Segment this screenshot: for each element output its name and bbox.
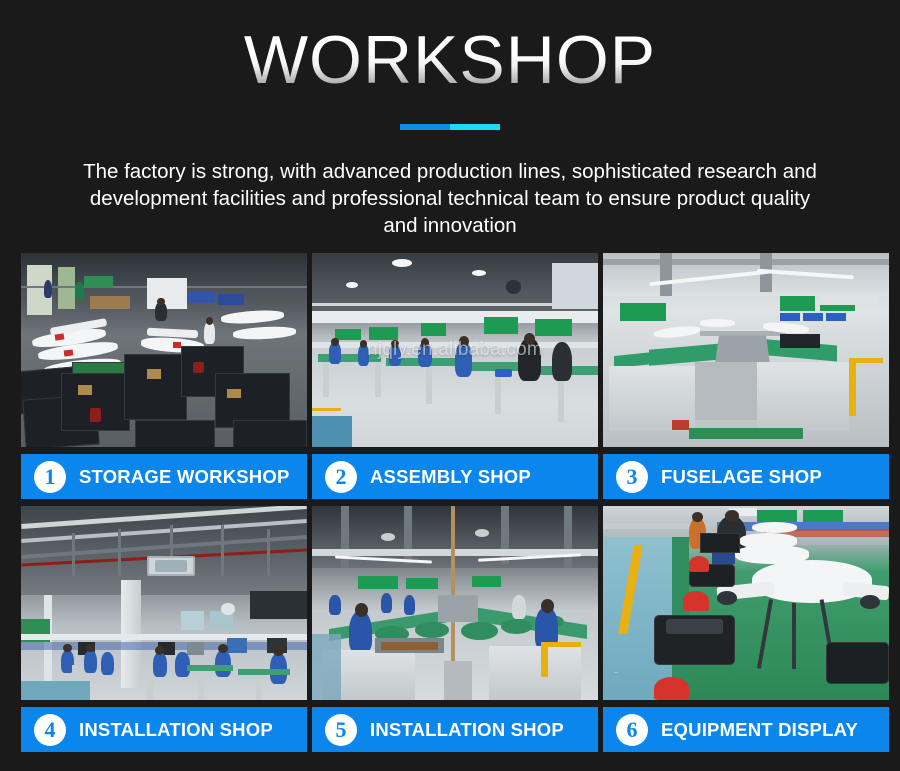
- step-number-badge: 5: [325, 714, 357, 746]
- step-number-badge: 1: [34, 461, 66, 493]
- workshop-photo-2: njqly.en.alibaba.com: [312, 253, 598, 447]
- divider-segment-left: [400, 124, 450, 130]
- workshop-photo-1: [21, 253, 307, 447]
- workshop-photo-4: [21, 506, 307, 700]
- workshop-caption-3[interactable]: 3 FUSELAGE SHOP: [603, 454, 889, 499]
- workshop-gallery: 1 STORAGE WORKSHOP: [21, 253, 890, 752]
- workshop-photo-5: [312, 506, 598, 700]
- workshop-caption-4[interactable]: 4 INSTALLATION SHOP: [21, 707, 307, 752]
- workshop-caption-1[interactable]: 1 STORAGE WORKSHOP: [21, 454, 307, 499]
- installation-shop-a-scene: [21, 506, 307, 700]
- page-subtitle: The factory is strong, with advanced pro…: [70, 158, 830, 239]
- gallery-item[interactable]: 3 FUSELAGE SHOP: [603, 253, 889, 499]
- workshop-caption-6[interactable]: 6 EQUIPMENT DISPLAY: [603, 707, 889, 752]
- installation-shop-b-scene: [312, 506, 598, 700]
- step-number-badge: 4: [34, 714, 66, 746]
- caption-label: INSTALLATION SHOP: [370, 719, 564, 741]
- assembly-shop-scene: [312, 253, 598, 447]
- gallery-item[interactable]: ⎯ 6 EQUIPMENT DISPLAY: [603, 506, 889, 752]
- page-title: WORKSHOP: [244, 26, 656, 94]
- gallery-item[interactable]: 1 STORAGE WORKSHOP: [21, 253, 307, 499]
- caption-label: FUSELAGE SHOP: [661, 466, 822, 488]
- caption-label: STORAGE WORKSHOP: [79, 466, 290, 488]
- caption-label: INSTALLATION SHOP: [79, 719, 273, 741]
- step-number-badge: 3: [616, 461, 648, 493]
- workshop-caption-5[interactable]: 5 INSTALLATION SHOP: [312, 707, 598, 752]
- workshop-page: WORKSHOP The factory is strong, with adv…: [0, 0, 900, 771]
- fuselage-shop-scene: [603, 253, 889, 447]
- gallery-item[interactable]: 4 INSTALLATION SHOP: [21, 506, 307, 752]
- equipment-display-scene: ⎯: [603, 506, 889, 700]
- divider-segment-right: [450, 124, 500, 130]
- workshop-caption-2[interactable]: 2 ASSEMBLY SHOP: [312, 454, 598, 499]
- page-header: WORKSHOP The factory is strong, with adv…: [0, 0, 900, 239]
- gallery-item[interactable]: njqly.en.alibaba.com 2 ASSEMBLY SHOP: [312, 253, 598, 499]
- gallery-item[interactable]: 5 INSTALLATION SHOP: [312, 506, 598, 752]
- storage-workshop-scene: [21, 253, 307, 447]
- step-number-badge: 2: [325, 461, 357, 493]
- caption-label: EQUIPMENT DISPLAY: [661, 719, 858, 741]
- caption-label: ASSEMBLY SHOP: [370, 466, 531, 488]
- title-divider: [400, 124, 500, 130]
- step-number-badge: 6: [616, 714, 648, 746]
- workshop-photo-6: ⎯: [603, 506, 889, 700]
- workshop-photo-3: [603, 253, 889, 447]
